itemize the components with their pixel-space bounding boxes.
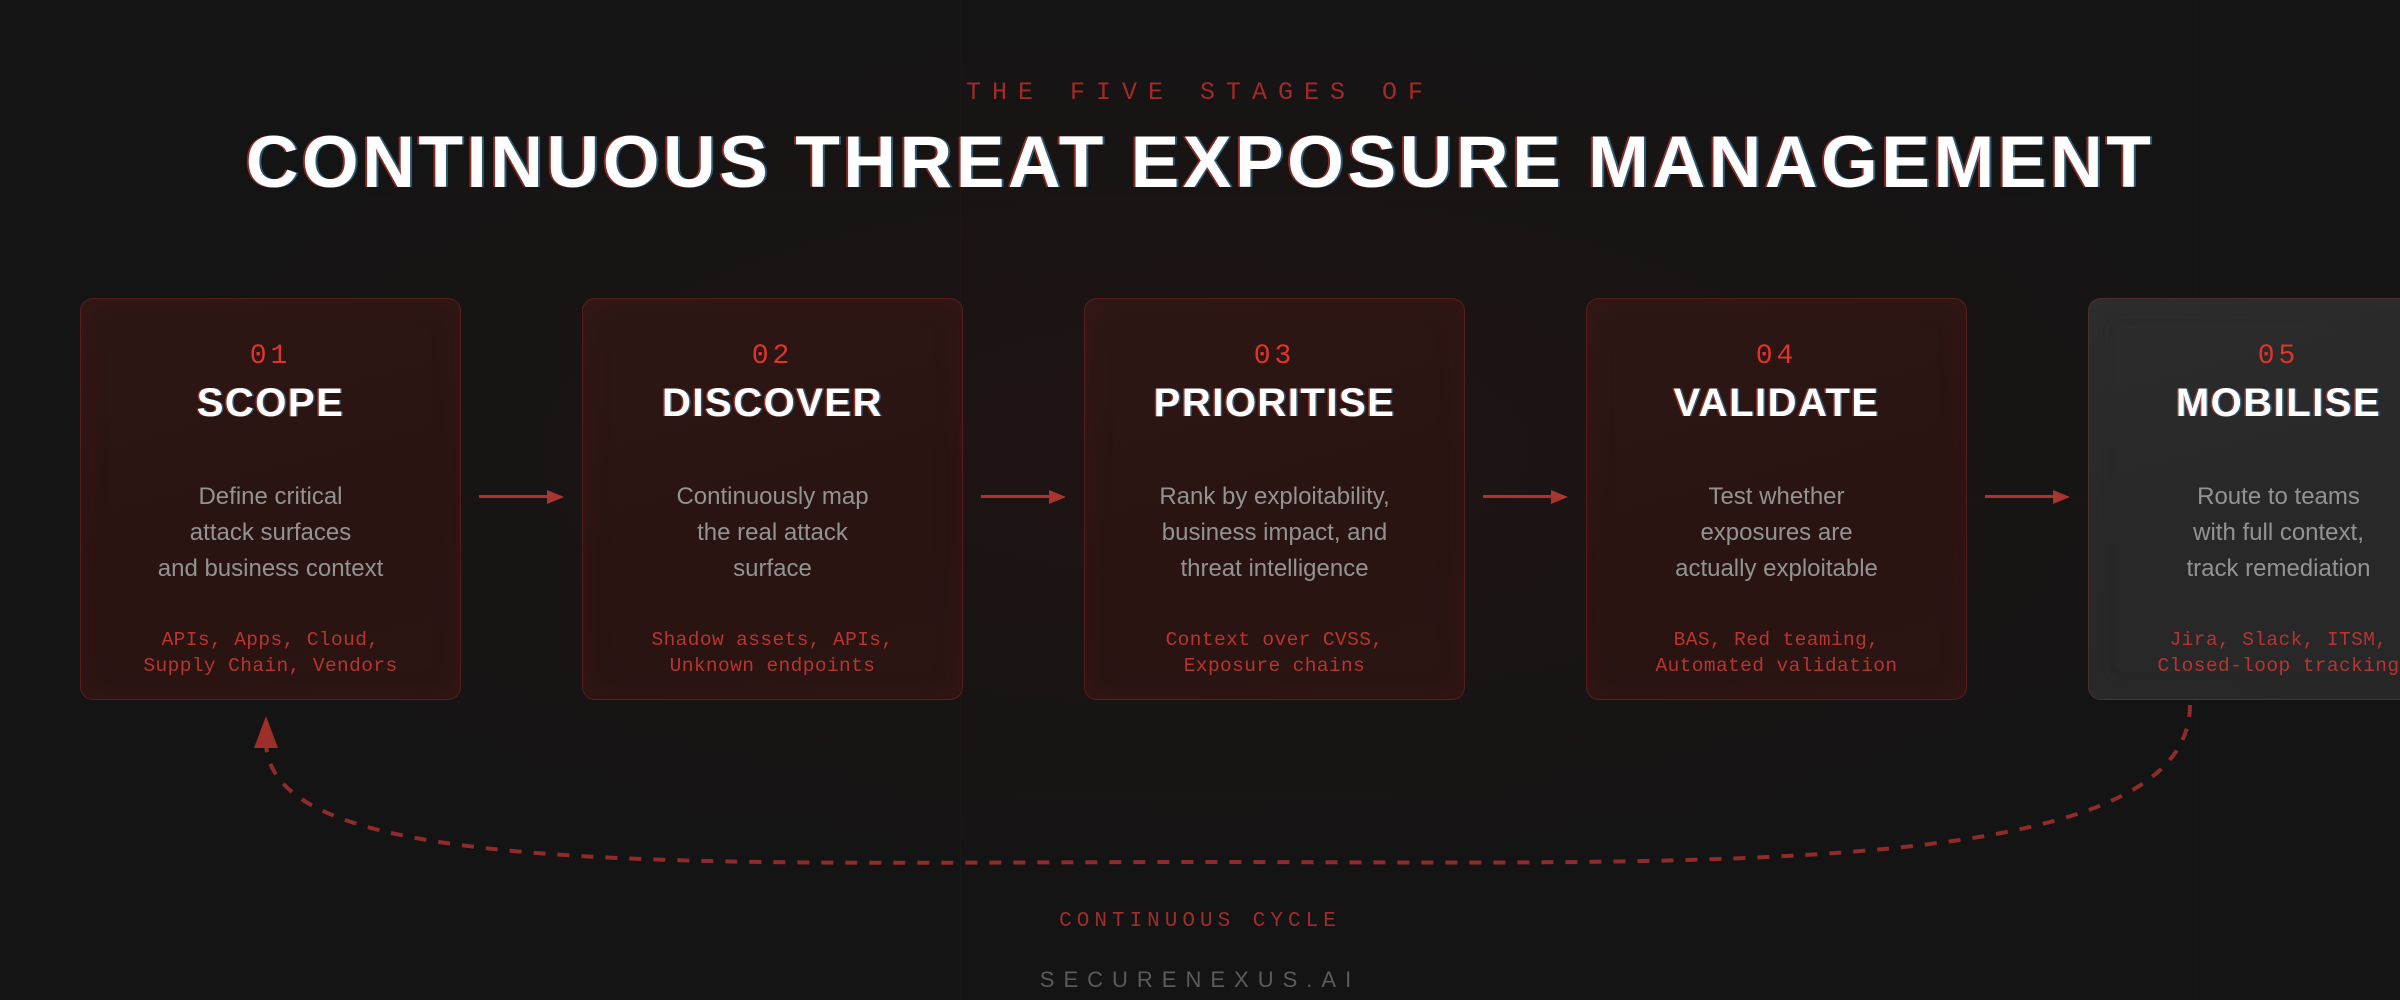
connector-arrow-3 xyxy=(1483,490,1568,504)
stage-tag-line: APIs, Apps, Cloud, xyxy=(81,627,460,653)
stage-description: Rank by exploitability,business impact, … xyxy=(1085,479,1464,587)
stage-description: Route to teamswith full context,track re… xyxy=(2089,479,2400,587)
stage-description-line: Rank by exploitability, xyxy=(1085,479,1464,515)
arrow-head-icon xyxy=(1049,490,1066,504)
infographic-canvas: THE FIVE STAGES OF CONTINUOUS THREAT EXP… xyxy=(0,0,2400,1000)
stage-tags: Context over CVSS,Exposure chains xyxy=(1085,627,1464,679)
stage-card-mobilise[interactable]: 05MOBILISERoute to teamswith full contex… xyxy=(2088,298,2400,700)
stage-description: Test whetherexposures areactually exploi… xyxy=(1587,479,1966,587)
arrow-shaft xyxy=(981,495,1049,498)
arrow-head-icon xyxy=(547,490,564,504)
stage-tags: Shadow assets, APIs,Unknown endpoints xyxy=(583,627,962,679)
stage-description-line: attack surfaces xyxy=(81,515,460,551)
arrow-head-icon xyxy=(2053,490,2070,504)
stage-tag-line: Shadow assets, APIs, xyxy=(583,627,962,653)
stage-description-line: the real attack xyxy=(583,515,962,551)
stage-tag-line: Unknown endpoints xyxy=(583,653,962,679)
stage-number: 03 xyxy=(1085,341,1464,372)
connector-arrow-1 xyxy=(479,490,564,504)
connector-arrow-4 xyxy=(1985,490,2070,504)
stage-description-line: Test whether xyxy=(1587,479,1966,515)
kicker-text: THE FIVE STAGES OF xyxy=(0,78,2400,107)
stage-description-line: Continuously map xyxy=(583,479,962,515)
stage-description-line: threat intelligence xyxy=(1085,551,1464,587)
stage-name: DISCOVER xyxy=(583,381,962,426)
page-title: CONTINUOUS THREAT EXPOSURE MANAGEMENT xyxy=(0,121,2400,204)
stage-tag-line: BAS, Red teaming, xyxy=(1587,627,1966,653)
stage-number: 01 xyxy=(81,341,460,372)
cycle-arrowhead-icon xyxy=(254,716,278,748)
arrow-shaft xyxy=(1985,495,2053,498)
stage-tag-line: Jira, Slack, ITSM, xyxy=(2089,627,2400,653)
stage-description-line: Route to teams xyxy=(2089,479,2400,515)
cycle-label: CONTINUOUS CYCLE xyxy=(0,910,2400,933)
stage-tags: Jira, Slack, ITSM,Closed-loop tracking xyxy=(2089,627,2400,679)
stage-description-line: exposures are xyxy=(1587,515,1966,551)
stage-name: VALIDATE xyxy=(1587,381,1966,426)
stage-description-line: with full context, xyxy=(2089,515,2400,551)
stage-card-discover[interactable]: 02DISCOVERContinuously mapthe real attac… xyxy=(582,298,963,700)
stage-number: 04 xyxy=(1587,341,1966,372)
stage-description: Define criticalattack surfacesand busine… xyxy=(81,479,460,587)
stage-tag-line: Closed-loop tracking xyxy=(2089,653,2400,679)
stage-tag-line: Context over CVSS, xyxy=(1085,627,1464,653)
stage-tags: BAS, Red teaming,Automated validation xyxy=(1587,627,1966,679)
stage-description-line: surface xyxy=(583,551,962,587)
cycle-arc xyxy=(266,705,2190,863)
connector-arrow-2 xyxy=(981,490,1066,504)
stage-description-line: track remediation xyxy=(2089,551,2400,587)
stage-tag-line: Supply Chain, Vendors xyxy=(81,653,460,679)
stage-description-line: business impact, and xyxy=(1085,515,1464,551)
stage-description: Continuously mapthe real attacksurface xyxy=(583,479,962,587)
stage-description-line: actually exploitable xyxy=(1587,551,1966,587)
stage-card-prioritise[interactable]: 03PRIORITISERank by exploitability,busin… xyxy=(1084,298,1465,700)
stage-card-validate[interactable]: 04VALIDATETest whetherexposures areactua… xyxy=(1586,298,1967,700)
stage-name: PRIORITISE xyxy=(1085,381,1464,426)
stage-number: 02 xyxy=(583,341,962,372)
stage-number: 05 xyxy=(2089,341,2400,372)
stage-name: MOBILISE xyxy=(2089,381,2400,426)
arrow-head-icon xyxy=(1551,490,1568,504)
stage-tags: APIs, Apps, Cloud,Supply Chain, Vendors xyxy=(81,627,460,679)
stage-card-scope[interactable]: 01SCOPEDefine criticalattack surfacesand… xyxy=(80,298,461,700)
arrow-shaft xyxy=(1483,495,1551,498)
stage-tag-line: Automated validation xyxy=(1587,653,1966,679)
header: THE FIVE STAGES OF CONTINUOUS THREAT EXP… xyxy=(0,78,2400,204)
brand-watermark: SECURENEXUS.AI xyxy=(0,967,2400,993)
stage-description-line: Define critical xyxy=(81,479,460,515)
stage-description-line: and business context xyxy=(81,551,460,587)
arrow-shaft xyxy=(479,495,547,498)
stage-name: SCOPE xyxy=(81,381,460,426)
stage-tag-line: Exposure chains xyxy=(1085,653,1464,679)
